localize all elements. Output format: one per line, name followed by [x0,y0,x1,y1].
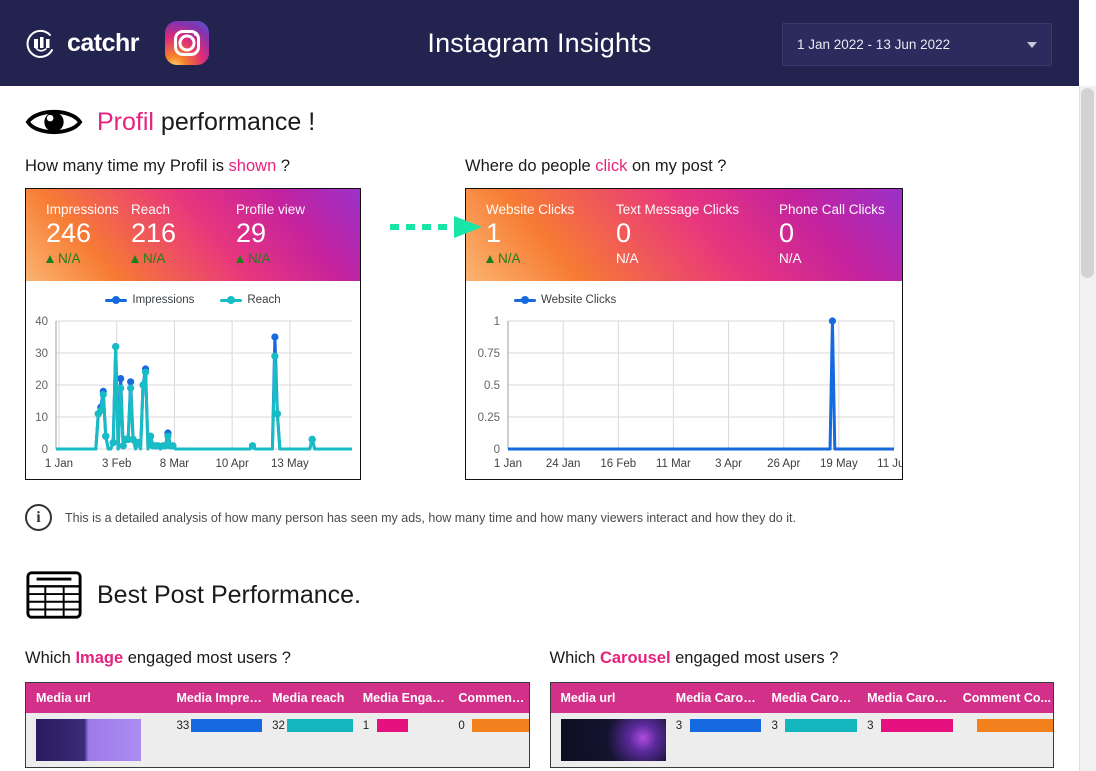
kpi-profile-view-delta-text: N/A [248,251,271,266]
kpi-phone-call-clicks-label: Phone Call Clicks [779,202,885,217]
svg-text:3 Feb: 3 Feb [102,458,131,470]
question-clicks-b: on my post ? [627,157,726,175]
table-row[interactable]: 3 3 3 [550,713,1054,768]
col-media-carousel-1[interactable]: Media Carous... [666,683,762,714]
bar-carousel-3 [881,719,953,732]
cell-media-thumbnail[interactable] [26,713,167,768]
kpi-text-message-clicks-label: Text Message Clicks [616,202,779,217]
question-image-b: engaged most users ? [123,649,291,667]
svg-text:1 Jan: 1 Jan [494,458,522,470]
chart-legend-right: Website Clicks [466,289,902,311]
carousel-table-block: Which Carousel engaged most users ? Medi… [550,649,1055,768]
brand-area: catchr [20,21,209,65]
svg-text:1 Jan: 1 Jan [45,458,73,470]
chevron-down-icon [1027,42,1037,48]
kpi-text-message-clicks: Text Message Clicks 0 N/A [616,202,779,281]
legend-item-impressions[interactable]: Impressions [105,294,194,306]
chart-legend-left: Impressions Reach [26,289,360,311]
svg-text:40: 40 [35,316,48,328]
kpi-impressions-delta-text: N/A [58,251,81,266]
legend-label-impressions: Impressions [132,294,194,306]
flow-arrow [386,212,486,242]
cell-media-reach: 32 [262,713,353,768]
date-range-value: 1 Jan 2022 - 13 Jun 2022 [797,37,1027,52]
section-title-accent: Profil [97,108,154,136]
svg-text:13 May: 13 May [271,458,309,470]
value-carousel-2: 3 [771,720,781,732]
value-media-impressions: 33 [176,720,187,732]
kpi-website-clicks-delta-text: N/A [498,251,521,266]
col-media-impressions[interactable]: Media Impres... [166,683,262,714]
info-icon: i [25,504,52,531]
table-icon [25,569,83,621]
kpi-impressions-delta: N/A [46,251,131,266]
question-impressions: How many time my Profil is shown ? [25,157,465,176]
kpi-profile-view-value: 29 [236,218,305,249]
kpi-website-clicks-label: Website Clicks [486,202,616,217]
section-header-best-post: Best Post Performance. [25,569,1054,621]
chart-plot-left: 0102030401 Jan3 Feb8 Mar10 Apr13 May [26,311,360,479]
kpi-profile-view-label: Profile view [236,202,305,217]
kpi-reach-delta: N/A [131,251,236,266]
legend-item-reach[interactable]: Reach [220,294,280,306]
value-media-engagement: 1 [363,720,373,732]
app-header: catchr Instagram Insights 1 Jan 2022 - 1… [0,0,1079,86]
svg-text:0.25: 0.25 [478,412,500,424]
catchr-mark-icon [20,25,60,61]
info-note-text: This is a detailed analysis of how many … [65,511,796,525]
value-media-reach: 32 [272,720,283,732]
col-media-reach[interactable]: Media reach [262,683,353,714]
dashboard-content: Profil performance ! How many time my Pr… [0,86,1079,771]
kpi-strip-clicks: Website Clicks 1 N/A Text Message Clicks… [466,189,902,281]
chart-plot-right: 00.250.50.7511 Jan24 Jan16 Feb11 Mar3 Ap… [466,311,902,479]
section-header-profile: Profil performance ! [25,105,1054,139]
up-arrow-icon [236,255,244,263]
kpi-profile-view-delta: N/A [236,251,305,266]
question-image-accent: Image [75,649,123,667]
kpi-strip-profile: Impressions 246 N/A Reach 216 N/A Profil… [26,189,360,281]
section-title-best-post: Best Post Performance. [97,581,361,610]
kpi-phone-call-clicks: Phone Call Clicks 0 N/A [779,202,885,281]
question-carousel-b: engaged most users ? [671,649,839,667]
bar-media-reach [287,719,353,732]
svg-text:8 Mar: 8 Mar [160,458,190,470]
kpi-website-clicks: Website Clicks 1 N/A [486,202,616,281]
kpi-cards-row: Impressions 246 N/A Reach 216 N/A Profil… [25,188,1054,480]
value-carousel-3: 3 [867,720,877,732]
kpi-impressions-value: 246 [46,218,131,249]
question-carousel-accent: Carousel [600,649,671,667]
eye-icon [25,105,83,139]
svg-text:30: 30 [35,348,48,360]
cell-media-thumbnail[interactable] [550,713,666,768]
question-carousel: Which Carousel engaged most users ? [550,649,1055,668]
question-clicks-accent: click [595,157,627,175]
col-media-carousel-3[interactable]: Media Carous... [857,683,953,714]
image-performance-table: Media url Media Impres... Media reach Me… [25,682,530,768]
brand-name: catchr [67,29,139,58]
info-note: i This is a detailed analysis of how man… [25,504,1054,531]
bar-comment-count [977,719,1053,732]
scrollbar-thumb[interactable] [1081,88,1094,278]
kpi-website-clicks-delta: N/A [486,251,616,266]
svg-text:1: 1 [494,316,500,328]
carousel-performance-table: Media url Media Carous... Media Carous..… [550,682,1055,768]
legend-marker-impressions [105,299,127,302]
up-arrow-icon [131,255,139,263]
cell-media-carousel-3: 3 [857,713,953,768]
image-table-block: Which Image engaged most users ? Media u… [25,649,530,768]
col-media-url[interactable]: Media url [550,683,666,714]
question-impressions-b: ? [276,157,290,175]
up-arrow-icon [46,255,54,263]
cell-media-impressions: 33 [166,713,262,768]
col-media-carousel-2[interactable]: Media Carous... [761,683,857,714]
kpi-reach-delta-text: N/A [143,251,166,266]
cell-comment-count: 0 [448,713,529,768]
col-comment-count[interactable]: Comment Co... [448,683,529,714]
bar-comment-count [472,719,528,732]
profile-metrics-card: Impressions 246 N/A Reach 216 N/A Profil… [25,188,361,480]
kpi-profile-view: Profile view 29 N/A [236,202,305,281]
question-impressions-accent: shown [229,157,277,175]
website-clicks-chart: Website Clicks 00.250.50.7511 Jan24 Jan1… [466,281,902,479]
bar-media-engagement [377,719,408,732]
table-row[interactable]: 33 32 1 0 [26,713,530,768]
question-clicks-a: Where do people [465,157,595,175]
value-carousel-1: 3 [676,720,686,732]
svg-text:3 Apr: 3 Apr [715,458,742,470]
best-post-tables-row: Which Image engaged most users ? Media u… [25,649,1054,768]
question-impressions-a: How many time my Profil is [25,157,229,175]
instagram-icon [165,21,209,65]
kpi-impressions-label: Impressions [46,202,131,217]
questions-row: How many time my Profil is shown ? Where… [25,157,1054,176]
kpi-website-clicks-value: 1 [486,218,616,249]
kpi-reach-label: Reach [131,202,236,217]
dashboard-page: catchr Instagram Insights 1 Jan 2022 - 1… [0,0,1096,771]
question-image-a: Which [25,649,75,667]
bar-media-impressions [191,719,262,732]
kpi-reach: Reach 216 N/A [131,202,236,281]
svg-text:24 Jan: 24 Jan [546,458,581,470]
table-header-row: Media url Media Carous... Media Carous..… [550,683,1054,714]
svg-text:16 Feb: 16 Feb [600,458,636,470]
legend-marker-website-clicks [514,299,536,302]
impressions-reach-chart: Impressions Reach 0102030401 Jan3 Feb8 M… [26,281,360,479]
value-comment-count: 0 [458,720,468,732]
svg-text:11 Jun: 11 Jun [877,458,902,470]
svg-text:11 Mar: 11 Mar [656,458,691,470]
col-media-engagement[interactable]: Media Engag... [353,683,449,714]
section-title-profile: Profil performance ! [97,108,315,137]
kpi-text-message-clicks-delta: N/A [616,251,779,266]
cell-media-carousel-1: 3 [666,713,762,768]
kpi-text-message-clicks-value: 0 [616,218,779,249]
catchr-logo: catchr [20,25,139,61]
section-title-rest: performance ! [154,108,315,136]
date-range-picker[interactable]: 1 Jan 2022 - 13 Jun 2022 [782,23,1052,66]
kpi-reach-value: 216 [131,218,236,249]
svg-text:0.75: 0.75 [478,348,500,360]
svg-text:0.5: 0.5 [484,380,500,392]
col-media-url[interactable]: Media url [26,683,167,714]
question-image: Which Image engaged most users ? [25,649,530,668]
cell-media-carousel-2: 3 [761,713,857,768]
cell-media-engagement: 1 [353,713,449,768]
svg-text:10 Apr: 10 Apr [216,458,249,470]
col-comment-count[interactable]: Comment Co... [953,683,1054,714]
legend-marker-reach [220,299,242,302]
image-thumbnail[interactable] [36,719,141,761]
clicks-metrics-card: Website Clicks 1 N/A Text Message Clicks… [465,188,903,480]
carousel-thumbnail[interactable] [561,719,666,761]
svg-text:10: 10 [35,412,48,424]
svg-text:19 May: 19 May [820,458,858,470]
kpi-impressions: Impressions 246 N/A [46,202,131,281]
bar-carousel-1 [690,719,762,732]
question-carousel-a: Which [550,649,600,667]
cell-comment-count [953,713,1054,768]
kpi-phone-call-clicks-value: 0 [779,218,885,249]
legend-item-website-clicks[interactable]: Website Clicks [514,294,616,306]
svg-text:26 Apr: 26 Apr [767,458,800,470]
bar-carousel-2 [785,719,857,732]
legend-label-website-clicks: Website Clicks [541,294,616,306]
up-arrow-icon [486,255,494,263]
question-clicks: Where do people click on my post ? [465,157,1054,176]
svg-text:0: 0 [42,444,48,456]
page-scrollbar[interactable] [1079,86,1096,771]
legend-label-reach: Reach [247,294,280,306]
svg-text:20: 20 [35,380,48,392]
kpi-phone-call-clicks-delta: N/A [779,251,885,266]
table-header-row: Media url Media Impres... Media reach Me… [26,683,530,714]
svg-text:0: 0 [494,444,500,456]
